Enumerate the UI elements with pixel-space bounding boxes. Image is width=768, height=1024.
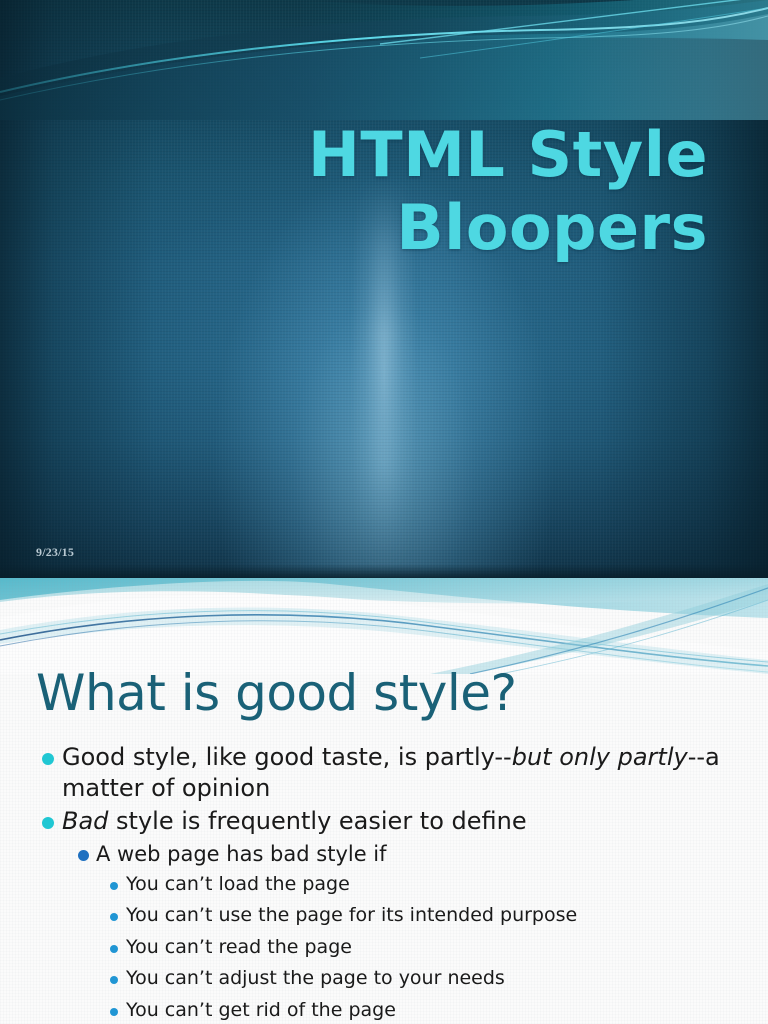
bullet-text-segment: You can’t adjust the page to your needs — [126, 967, 505, 989]
bullet-text-segment: style is frequently easier to define — [108, 807, 526, 835]
bullet-text-emphasis: but only partly — [512, 743, 688, 771]
bullet-dot-icon — [42, 753, 54, 765]
bullet-item-level1: Good style, like good taste, is partly--… — [30, 742, 746, 804]
bullet-item-level3: You can’t adjust the page to your needs — [30, 963, 746, 995]
bullet-list: Good style, like good taste, is partly--… — [30, 742, 746, 1024]
presentation-title-line2: Bloopers — [396, 191, 708, 264]
bullet-text: You can’t load the page — [126, 869, 746, 901]
content-slide-wave-header — [0, 578, 768, 674]
bullet-item-level3: You can’t load the page — [30, 869, 746, 901]
bullet-dot-icon — [110, 882, 118, 890]
bullet-item-level3: You can’t use the page for its intended … — [30, 900, 746, 932]
bullet-text: A web page has bad style if — [96, 840, 746, 868]
bullet-text-segment: Good style, like good taste, is partly-- — [62, 743, 512, 771]
title-block: HTML Style Bloopers — [60, 118, 708, 264]
title-slide: HTML Style Bloopers 9/23/15 — [0, 0, 768, 578]
bullet-text-emphasis: Bad — [62, 807, 108, 835]
bullet-item-level2: A web page has bad style if — [30, 840, 746, 868]
bullet-dot-icon — [110, 913, 118, 921]
bullet-text: Good style, like good taste, is partly--… — [62, 742, 746, 804]
bullet-text: You can’t read the page — [126, 932, 746, 964]
bullet-item-level1: Bad style is frequently easier to define — [30, 806, 746, 837]
bullet-item-level3: You can’t get rid of the page — [30, 995, 746, 1024]
presentation-title: HTML Style Bloopers — [60, 118, 708, 264]
slide-deck: HTML Style Bloopers 9/23/15 — [0, 0, 768, 1024]
slide-heading: What is good style? — [36, 668, 517, 718]
bullet-text: You can’t adjust the page to your needs — [126, 963, 746, 995]
bullet-text-segment: A web page has bad style if — [96, 842, 387, 866]
bullet-text-segment: You can’t use the page for its intended … — [126, 904, 577, 926]
title-slide-wave-decoration — [0, 0, 768, 120]
bullet-text-segment: You can’t read the page — [126, 936, 352, 958]
bullet-text-segment: You can’t get rid of the page — [126, 999, 396, 1021]
bullet-dot-icon — [110, 976, 118, 984]
bullet-dot-icon — [110, 945, 118, 953]
bullet-dot-icon — [78, 850, 89, 861]
bullet-text: Bad style is frequently easier to define — [62, 806, 746, 837]
title-slide-bottom-shade — [0, 564, 768, 578]
content-slide: What is good style? Good style, like goo… — [0, 578, 768, 1024]
bullet-dot-icon — [42, 817, 54, 829]
bullet-item-level3: You can’t read the page — [30, 932, 746, 964]
bullet-text: You can’t use the page for its intended … — [126, 900, 746, 932]
bullet-text: You can’t get rid of the page — [126, 995, 746, 1024]
bullet-dot-icon — [110, 1008, 118, 1016]
presentation-title-line1: HTML Style — [308, 118, 708, 191]
bullet-text-segment: You can’t load the page — [126, 873, 350, 895]
slide-date: 9/23/15 — [36, 545, 74, 560]
